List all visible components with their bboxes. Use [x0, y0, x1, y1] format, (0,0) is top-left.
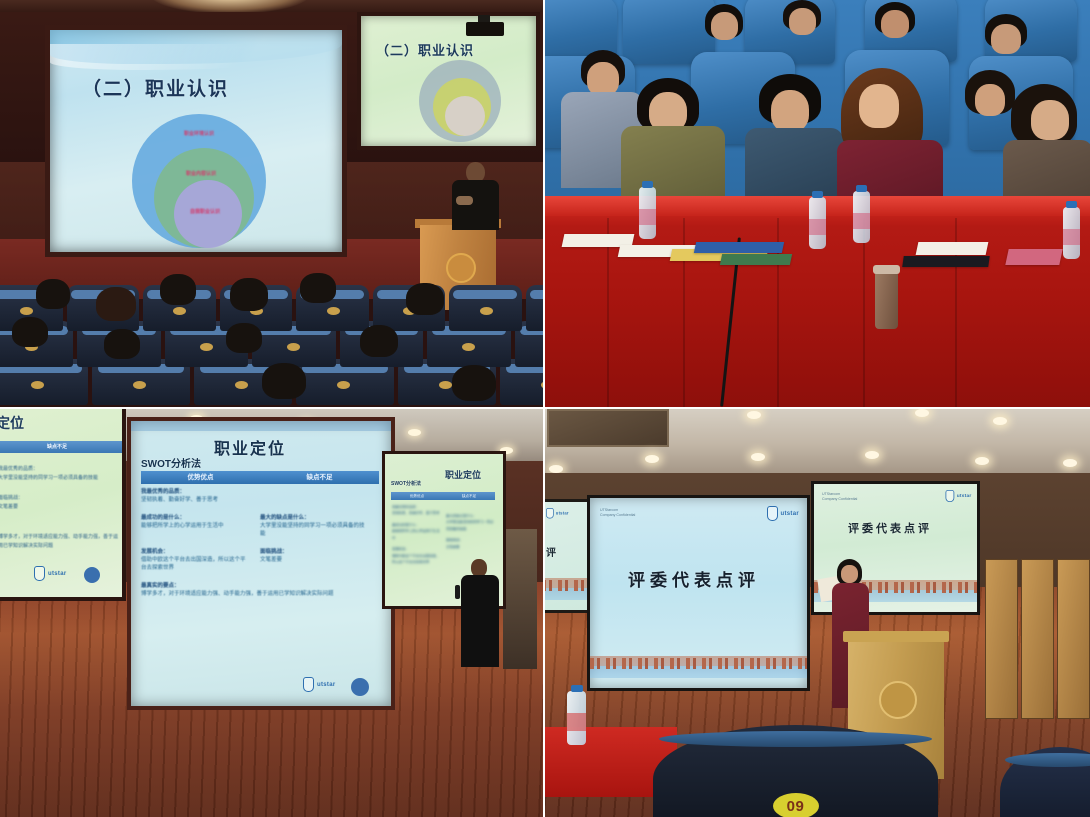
audience-member-head [881, 10, 909, 38]
podium-top [843, 631, 949, 642]
utstar-logo: utstar [945, 490, 971, 502]
circle-middle-label: 职业内容认识 [166, 170, 236, 177]
side-slide-title: 评委代表点评 [848, 520, 932, 536]
left-screen-title-fragment: 评 [546, 544, 556, 559]
audience-head [452, 365, 496, 401]
photo-collage: （二）职业认识 职业环境认识 职业内容认识 自我职业认识 （二）职业认识 [0, 0, 1090, 817]
pencil-case [1005, 249, 1062, 265]
side-table-header: 优势优点 缺点不足 [391, 492, 495, 500]
handheld-microphone [455, 585, 460, 599]
audience-head [36, 279, 70, 309]
audience-head [160, 274, 196, 305]
left-projection-screen: 定位 缺点不足 我最优秀的品质： 大学里没能坚持的同学习一项必须具备的技能 面临… [0, 409, 126, 601]
document-folder [694, 242, 784, 253]
left-screen-table-header: 缺点不足 [0, 441, 122, 453]
university-seal-icon [351, 678, 369, 696]
table-drape-fold [863, 218, 865, 407]
ceiling-downlight [751, 453, 765, 461]
cabinet-panel [1021, 559, 1054, 719]
audience-seat [526, 285, 543, 331]
photo-panel-bottom-right: 评 utstar UTStarcom Company Confidential … [545, 409, 1090, 817]
corporate-text: UTStarcom Company Confidential [822, 492, 857, 503]
bottle-label [567, 713, 586, 731]
thermos-flask [875, 271, 898, 329]
wooden-cabinets [985, 559, 1090, 719]
judge-head [859, 84, 899, 128]
photo-panel-top-left: （二）职业认识 职业环境认识 职业内容认识 自我职业认识 （二）职业认识 [0, 0, 543, 407]
audience-member-head [711, 12, 738, 40]
logo-mark-icon [34, 566, 45, 581]
left-screen-body: 我最优秀的品质： 大学里没能坚持的同学习一项必须具备的技能 面临挑战： 文笔差要… [0, 465, 122, 550]
side-circle-diagram [419, 60, 503, 142]
logo-mark-icon [303, 677, 314, 692]
water-bottle [1063, 207, 1080, 259]
foreground-seat [1000, 747, 1090, 817]
logo-mark-icon [767, 506, 778, 521]
presenter-arm [456, 196, 473, 205]
judge-head [1031, 100, 1069, 140]
audience-head [360, 325, 398, 357]
swot-table-row: 最成功的是什么： 能够把所学上的心学运用于生活中 最大的缺点是什么： 大学里没能… [141, 515, 379, 539]
left-screen-title: 定位 [0, 413, 24, 433]
slide-title: 职业定位 [214, 435, 286, 459]
swot-table: 优势优点 缺点不足 我最优秀的品质： 坚韧执着、勤奋好学、善于思考 最成功的是什… [141, 471, 379, 599]
seat-number-badge: 09 [773, 793, 819, 817]
side-slide-title: 职业定位 [445, 468, 481, 481]
judge-head [771, 90, 809, 132]
slide-skyline-graphic [590, 656, 807, 678]
ceiling-downlight [747, 411, 761, 419]
ceiling-projector [466, 22, 504, 36]
slide-toolbar-strip [131, 421, 391, 431]
swot-table-header-row: 优势优点 缺点不足 [141, 471, 379, 484]
judge-head [587, 62, 619, 96]
bottle-cap [571, 685, 583, 692]
cabinet-panel [1057, 559, 1090, 719]
seat-rim [659, 731, 933, 747]
utstar-logo: utstar [34, 566, 66, 581]
utstar-logo: utstar [303, 677, 335, 692]
document-folder [720, 254, 792, 265]
presenter-body [461, 575, 499, 667]
concentric-circle-diagram: 职业环境认识 职业内容认识 自我职业认识 [128, 114, 274, 249]
logo-mark-icon [546, 508, 554, 519]
ceiling-downlight [975, 457, 989, 465]
judge-head [841, 565, 858, 583]
ceiling-downlight [915, 409, 929, 417]
audience-member-head [991, 24, 1021, 54]
slide-title: （二）职业认识 [82, 74, 229, 101]
cabinet-panel [985, 559, 1018, 719]
audience-head [226, 323, 262, 353]
ceiling-downlight [549, 465, 563, 473]
side-slide-subtitle: SWOT分析法 [391, 480, 421, 487]
water-bottle [567, 691, 586, 745]
air-conditioner-vent [547, 409, 669, 447]
side-slide-title: （二）职业认识 [376, 40, 474, 59]
audience-seat [449, 285, 522, 331]
utstar-logo: utstar [546, 508, 569, 519]
main-projection-screen: （二）职业认识 职业环境认识 职业内容认识 自我职业认识 [45, 25, 347, 257]
left-projection-screen: 评 utstar [545, 499, 591, 613]
audience-head [262, 363, 306, 399]
document-paper [916, 242, 989, 255]
audience-head [12, 317, 48, 347]
corporate-text: UTStarcom Company Confidential [600, 508, 635, 519]
main-projection-screen: 职业定位 SWOT分析法 优势优点 缺点不足 我最优秀的品质： 坚韧执着、勤奋好… [127, 417, 395, 710]
circle-outer-label: 职业环境认识 [164, 130, 234, 137]
tablet-device [902, 256, 990, 267]
slide-skyline-graphic [545, 578, 588, 600]
side-projection-screen: （二）职业认识 [357, 12, 540, 150]
circle-inner-label: 自我职业认识 [170, 208, 240, 215]
photo-panel-top-right [545, 0, 1090, 407]
swot-header-weaknesses: 缺点不足 [260, 471, 379, 484]
audience-head [230, 278, 268, 311]
ceiling-downlight [865, 451, 879, 459]
ceiling-downlight [993, 417, 1007, 425]
main-projection-screen: UTStarcom Company Confidential utstar 评委… [587, 495, 810, 691]
foreground-seat: 09 [653, 725, 938, 817]
audience-head [96, 287, 136, 321]
podium-emblem [879, 681, 917, 719]
swot-header-strengths: 优势优点 [141, 471, 260, 484]
university-seal-icon [84, 567, 100, 583]
audience-head [406, 283, 444, 315]
side-circle-inner [445, 96, 485, 136]
doorway [503, 529, 537, 669]
audience-seating [0, 267, 543, 407]
photo-panel-bottom-left: 定位 缺点不足 我最优秀的品质： 大学里没能坚持的同学习一项必须具备的技能 面临… [0, 409, 543, 817]
audience-head [104, 329, 140, 359]
swot-table-row: 最真实的要点： 博学多才，对于环境适应能力强、动手能力强，善于运用已学知识解决实… [141, 583, 379, 599]
audience-member-head [975, 84, 1005, 116]
water-bottle [639, 187, 656, 239]
ceiling-downlight [1063, 459, 1077, 467]
swot-table-row: 我最优秀的品质： 坚韧执着、勤奋好学、善于思考 [141, 489, 379, 505]
ceiling-downlight [408, 429, 421, 436]
audience-head [300, 273, 336, 303]
ceiling-downlight [645, 455, 659, 463]
slide-title: 评委代表点评 [628, 566, 760, 591]
logo-mark-icon [945, 490, 954, 502]
utstar-logo: utstar [767, 506, 799, 521]
swot-table-row: 发展机会： 借助中欧这个平台去出国深造，所以这个平台去探索世界 面临挑战： 文笔… [141, 549, 379, 573]
presenter-body [452, 180, 499, 230]
water-bottle [809, 197, 826, 249]
slide-subtitle: SWOT分析法 [141, 455, 201, 470]
side-table-body: 我最优秀的品质： 坚韧执着、勤奋好学、善于思考 最成功的是什么： 能够把所学上的… [392, 504, 496, 566]
audience-member-head [789, 8, 816, 35]
water-bottle [853, 191, 870, 243]
